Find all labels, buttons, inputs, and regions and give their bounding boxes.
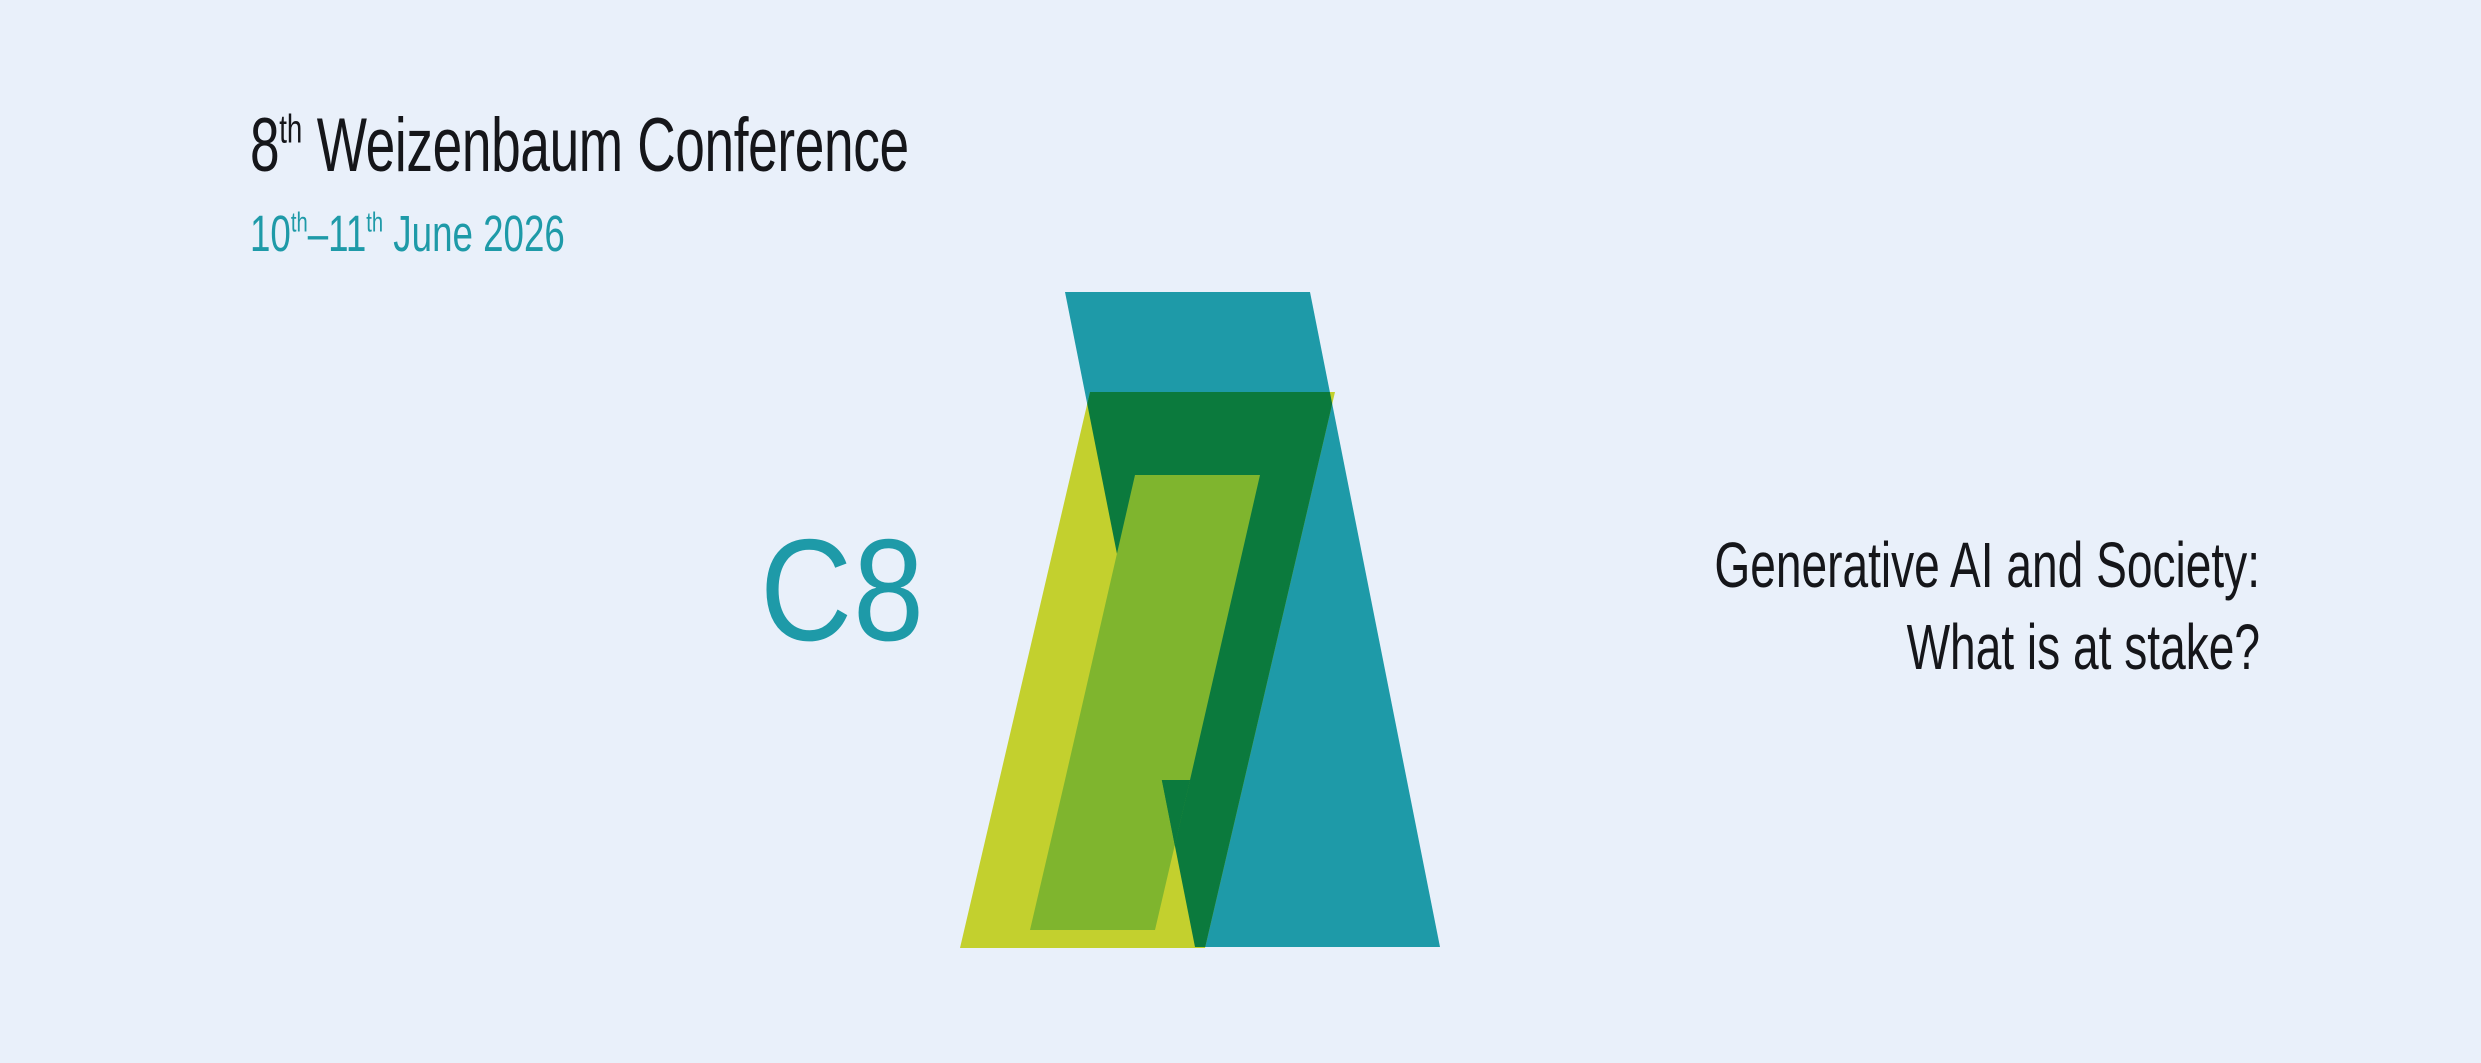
conference-theme: Generative AI and Society: What is at st… bbox=[1270, 525, 2260, 689]
conference-ordinal-suffix: th bbox=[279, 108, 302, 152]
conference-title-rest: Weizenbaum Conference bbox=[302, 103, 908, 188]
conference-poster: 8th Weizenbaum Conference 10th–11th June… bbox=[0, 0, 2481, 1063]
date-range-separator: – bbox=[308, 205, 328, 262]
theme-line-2: What is at stake? bbox=[1547, 607, 2260, 689]
date-start-number: 10 bbox=[250, 205, 291, 262]
date-start-ordinal: th bbox=[291, 206, 308, 237]
date-end-ordinal: th bbox=[366, 206, 383, 237]
page-title: 8th Weizenbaum Conference bbox=[250, 108, 1090, 184]
conference-ordinal-number: 8 bbox=[250, 103, 279, 188]
conference-dates: 10th–11th June 2026 bbox=[250, 208, 1114, 259]
date-end-number: 11 bbox=[328, 205, 366, 262]
theme-line-1: Generative AI and Society: bbox=[1547, 525, 2260, 607]
heading-block: 8th Weizenbaum Conference 10th–11th June… bbox=[250, 108, 1450, 259]
logo-wordmark-c8: C8 bbox=[760, 518, 925, 663]
date-month-year: June 2026 bbox=[383, 205, 565, 262]
